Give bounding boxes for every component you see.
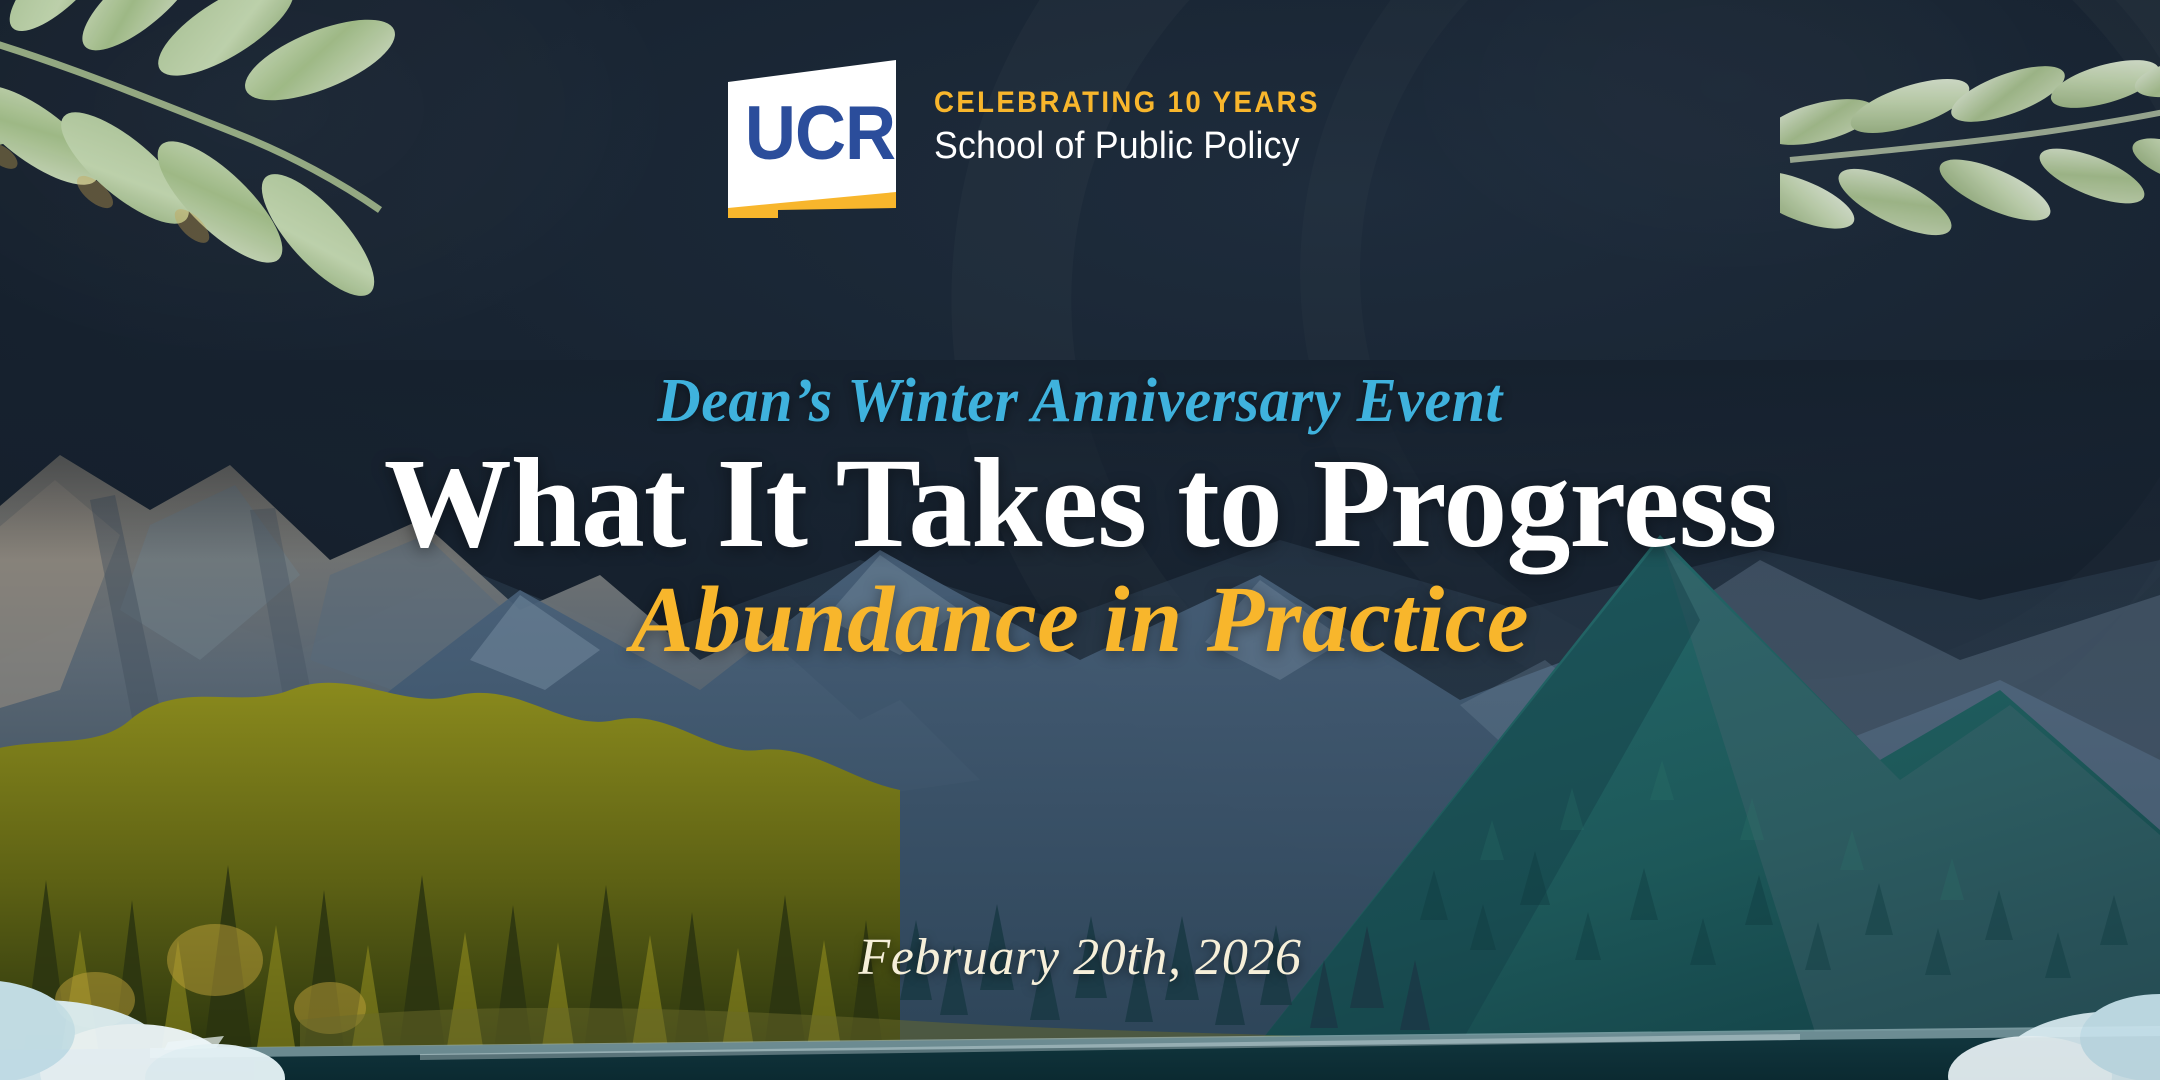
ucr-letters: UCR xyxy=(727,96,913,172)
main-copy-block: Dean’s Winter Anniversary Event What It … xyxy=(0,370,2160,669)
logo-text-block: CELEBRATING 10 YEARS School of Public Po… xyxy=(934,58,1353,168)
event-eyebrow: Dean’s Winter Anniversary Event xyxy=(32,370,2127,432)
leaf-branch-icon xyxy=(1780,40,2160,280)
ucr-logo-lockup[interactable]: UCR CELEBRATING 10 YEARS School of Publi… xyxy=(720,58,1353,218)
leaf-branch-icon xyxy=(0,0,460,360)
event-banner: UCR CELEBRATING 10 YEARS School of Publi… xyxy=(0,0,2160,1080)
celebrating-label: CELEBRATING 10 YEARS xyxy=(934,88,1320,118)
ucr-flag-logo-icon: UCR xyxy=(720,58,920,218)
school-label: School of Public Policy xyxy=(934,126,1328,168)
event-headline: What It Takes to Progress xyxy=(0,438,2160,569)
event-date: February 20th, 2026 xyxy=(0,928,2160,987)
event-subhead: Abundance in Practice xyxy=(0,571,2160,670)
